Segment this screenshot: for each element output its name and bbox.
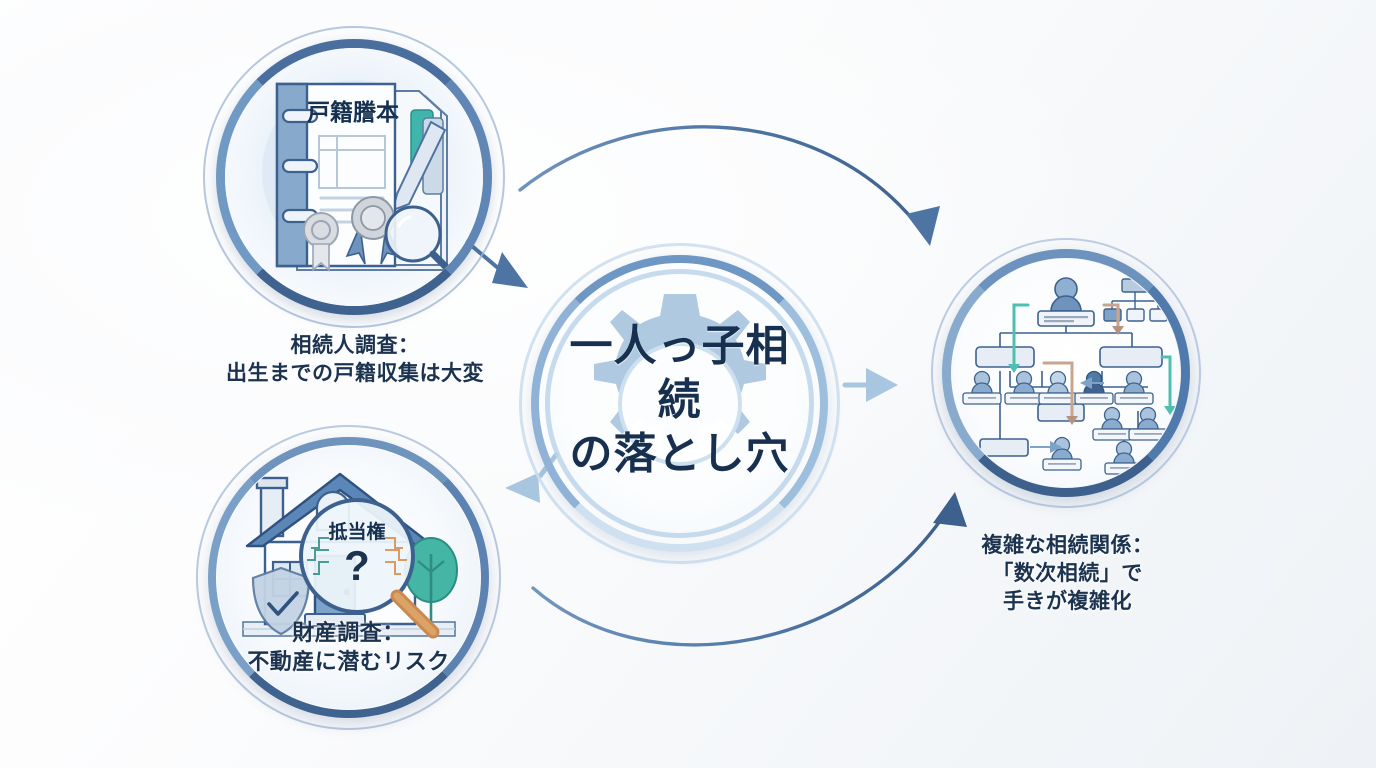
- node-center[interactable]: 一人っ子相続 の落とし穴: [519, 243, 840, 564]
- tree-heirs-row2: [1093, 408, 1167, 441]
- node-koseki[interactable]: 戸籍謄本: [203, 26, 505, 328]
- node-kankei[interactable]: [931, 238, 1201, 508]
- node-kankei-disc: [952, 259, 1180, 487]
- connector-arrow-center-kankei: [845, 368, 898, 402]
- document-binder-icon: 戸籍謄本: [225, 48, 483, 306]
- family-tree-icon: [952, 259, 1180, 487]
- center-disc: 一人っ子相続 の落とし穴: [551, 275, 808, 532]
- node-zaisan[interactable]: 抵当権 ? 財産調査： 不動産に潜むリスク: [196, 425, 501, 730]
- caption-zaisan: 財産調査： 不動産に潜むリスク: [217, 618, 480, 677]
- node-koseki-disc: 戸籍謄本: [225, 48, 483, 306]
- document-title-label: 戸籍謄本: [307, 99, 399, 125]
- node-zaisan-disc: 抵当権 ? 財産調査： 不動産に潜むリスク: [217, 446, 480, 709]
- tree-heirs-row3: [1043, 438, 1143, 475]
- caption-kankei: 複雑な相続関係： 「数次相続」で 手きが複雑化: [920, 532, 1215, 616]
- connector-arc-top: [520, 127, 940, 246]
- infographic-canvas: 戸籍謄本: [0, 0, 1376, 768]
- caption-koseki: 相続人調査： 出生までの戸籍収集は大変: [175, 332, 535, 388]
- mortgage-label: 抵当権: [328, 520, 385, 543]
- center-title: 一人っ子相続 の落とし穴: [551, 319, 808, 482]
- question-mark-label: ?: [344, 542, 370, 589]
- tree-node-decedent: [1038, 278, 1094, 326]
- org-chart-glyph: [1104, 279, 1167, 321]
